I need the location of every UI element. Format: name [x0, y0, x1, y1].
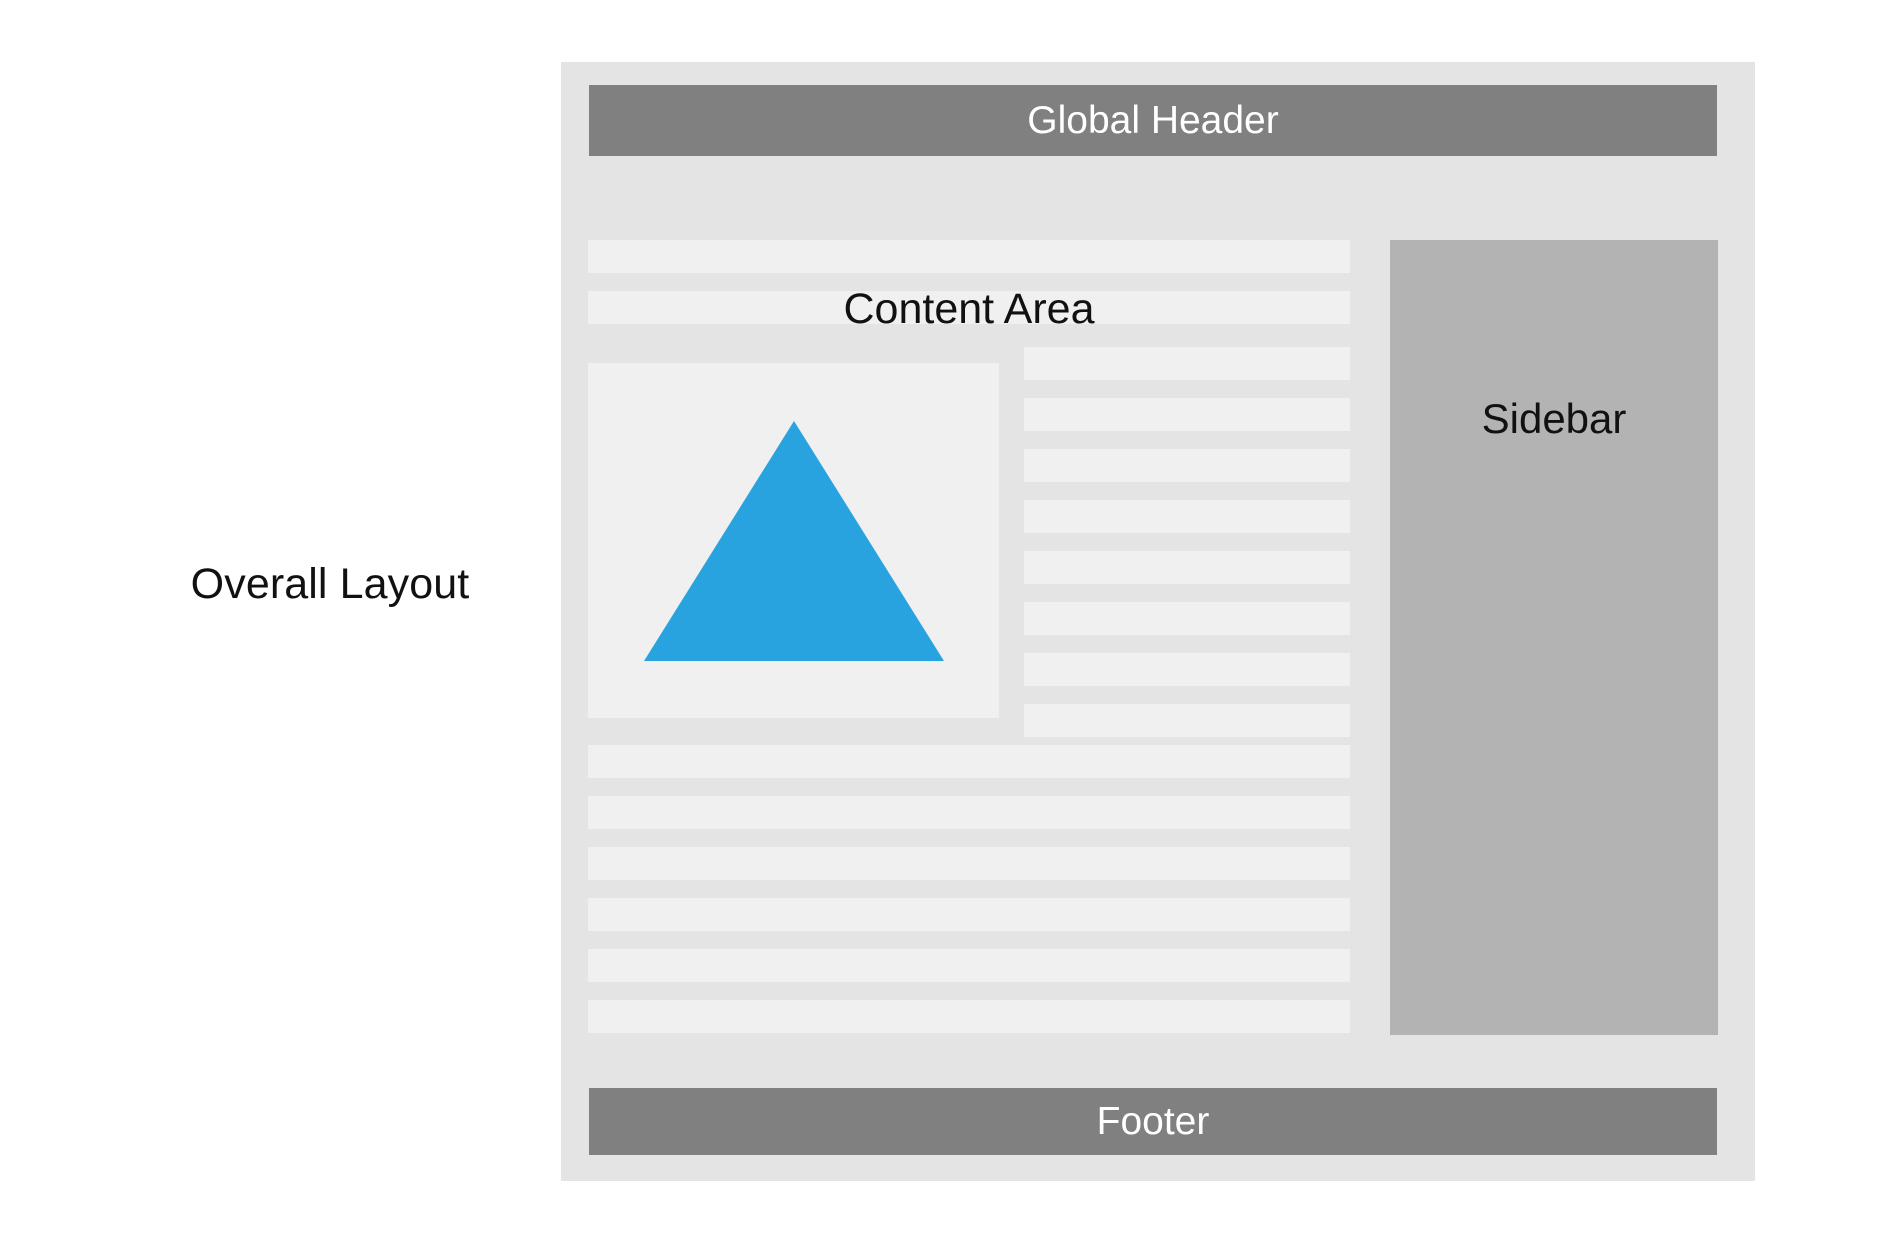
overall-layout-caption: Overall Layout [140, 563, 520, 606]
content-area-region: Content Area [588, 240, 1350, 1035]
skeleton-row [588, 240, 1350, 273]
skeleton-row [1024, 347, 1350, 380]
triangle-icon [644, 421, 944, 661]
global-header-region[interactable]: Global Header [589, 85, 1717, 156]
skeleton-row [588, 847, 1350, 880]
skeleton-row [588, 898, 1350, 931]
sidebar-label: Sidebar [1390, 398, 1718, 440]
skeleton-row [588, 745, 1350, 778]
sidebar-region[interactable]: Sidebar [1390, 240, 1718, 1035]
skeleton-row [1024, 602, 1350, 635]
content-area-label: Content Area [588, 288, 1350, 331]
skeleton-row [588, 1000, 1350, 1033]
skeleton-row [588, 949, 1350, 982]
footer-region[interactable]: Footer [589, 1088, 1717, 1155]
layout-frame: Global Header Content Area S [561, 62, 1755, 1181]
skeleton-row [1024, 704, 1350, 737]
skeleton-row [1024, 449, 1350, 482]
skeleton-row [588, 796, 1350, 829]
footer-label: Footer [1097, 1102, 1210, 1141]
skeleton-row [1024, 653, 1350, 686]
skeleton-row [1024, 500, 1350, 533]
skeleton-row [1024, 551, 1350, 584]
global-header-label: Global Header [1027, 101, 1278, 140]
image-placeholder [588, 363, 999, 718]
skeleton-row [1024, 398, 1350, 431]
